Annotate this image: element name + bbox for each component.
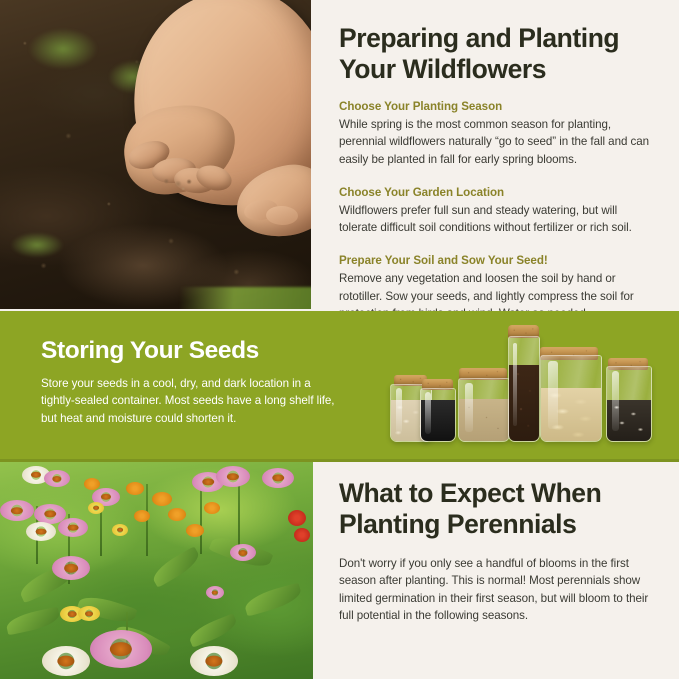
flower-bloom-yellow [112,524,128,536]
section-what-to-expect: What to Expect When Planting Perennials … [0,462,679,679]
block-garden-location: Choose Your Garden Location Wildflowers … [339,185,657,237]
sprout-blur [28,28,98,70]
seed-jar [458,378,510,442]
glass-highlight [465,383,473,433]
flower-bloom-yellow [78,606,100,621]
seed-jar [606,366,652,442]
flower-bloom-yellow [88,502,104,514]
body-garden-location: Wildflowers prefer full sun and steady w… [339,202,657,237]
body-planting-season: While spring is the most common season f… [339,116,657,168]
storing-seeds-body: Store your seeds in a cool, dry, and dar… [41,375,341,427]
flower-bloom-white [26,522,56,541]
glass-highlight [396,388,402,433]
flower-bloom-red [294,528,310,542]
flower-bloom-orange [152,492,172,506]
glass-highlight [425,392,430,434]
flower-bloom-pink [44,470,70,487]
section-green-text-column: Storing Your Seeds Store your seeds in a… [41,337,341,427]
stem [200,488,202,554]
seed-jar [540,355,602,442]
flower-bloom-orange [204,502,220,514]
flower-bloom-orange [134,510,150,522]
infographic-page: Preparing and Planting Your Wildflowers … [0,0,679,679]
subheading-prepare-soil: Prepare Your Soil and Sow Your Seed! [339,253,657,269]
page-title: Preparing and Planting Your Wildflowers [339,0,657,85]
flower-bloom-orange [168,508,186,521]
glass-highlight [513,343,518,426]
flower-bloom-pink [90,630,152,668]
storing-seeds-title: Storing Your Seeds [41,337,341,365]
flower-bloom-pink [0,500,34,521]
flower-bloom-pink [230,544,256,561]
hands-sowing-seeds-in-soil-photo [0,0,311,309]
section-storing-your-seeds: Storing Your Seeds Store your seeds in a… [0,311,679,462]
section-preparing-and-planting: Preparing and Planting Your Wildflowers … [0,0,679,311]
flower-bloom-pink [216,466,250,487]
flower-bloom-orange [186,524,204,537]
flower-bloom-pink [58,518,88,537]
flower-bloom-pink [206,586,224,599]
flower-bloom-orange [84,478,100,490]
flower-bloom-orange [126,482,144,495]
wildflower-meadow-photo [0,462,313,679]
glass-highlight [548,361,558,429]
subheading-garden-location: Choose Your Garden Location [339,185,657,201]
flower-bloom-red [288,510,306,526]
section-bottom-text-column: What to Expect When Planting Perennials … [339,462,657,625]
seeds-in-hand [158,172,200,194]
grass-blades [180,287,311,309]
seed-jar [508,336,540,442]
stem [238,476,240,552]
block-planting-season: Choose Your Planting Season While spring… [339,99,657,168]
flower-bloom-pink [262,468,294,488]
glass-highlight [612,371,619,430]
subheading-planting-season: Choose Your Planting Season [339,99,657,115]
what-to-expect-title: What to Expect When Planting Perennials [339,462,657,540]
flower-bloom-white [42,646,90,676]
section-top-text-column: Preparing and Planting Your Wildflowers … [339,0,657,311]
what-to-expect-body: Don't worry if you only see a handful of… [339,555,657,625]
seed-storage-jars-photo [382,321,662,456]
sprout-blur [10,232,64,258]
seed-jar [420,388,456,442]
flower-bloom-white [190,646,238,676]
flower-bloom-pink [52,556,90,580]
